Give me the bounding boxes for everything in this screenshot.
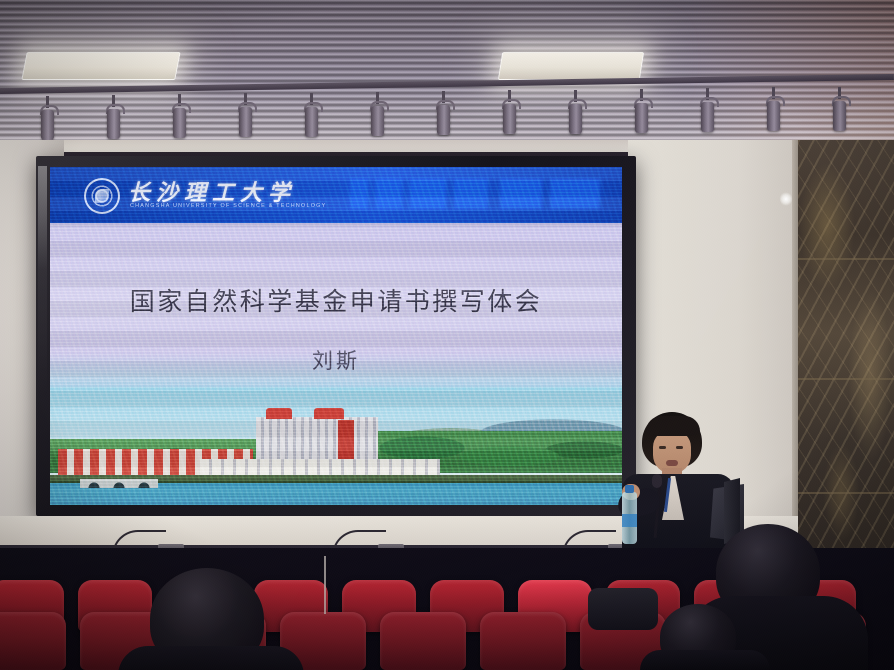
track-spotlight: [106, 105, 121, 139]
microphone-head-icon: [652, 474, 662, 488]
track-spotlight: [238, 103, 253, 137]
presenter-fringe: [646, 416, 700, 436]
university-logo-icon: [84, 178, 120, 214]
audience-member-far-shoulders: [640, 650, 770, 670]
track-spotlight: [304, 103, 319, 137]
track-spotlight: [172, 104, 187, 138]
slide-title: 国家自然科学基金申请书撰写体会: [50, 282, 622, 318]
marble-wall-column: [798, 140, 894, 570]
track-spotlight: [700, 98, 715, 132]
campus-photo: [50, 387, 622, 505]
bezel-gloss: [38, 166, 47, 396]
water-bottle: [622, 492, 637, 544]
ceiling-panel-light: [498, 52, 644, 80]
track-spotlight: [634, 99, 649, 133]
seat-divider-post: [324, 556, 326, 614]
audience-member-left-shoulders: [118, 646, 304, 670]
track-spotlight: [40, 106, 55, 140]
track-spotlight: [832, 97, 847, 131]
track-spotlight: [436, 101, 451, 135]
display-bezel: 长沙理工大学 CHANGSHA UNIVERSITY OF SCIENCE & …: [36, 156, 636, 516]
slide-header-banner: 长沙理工大学 CHANGSHA UNIVERSITY OF SCIENCE & …: [50, 167, 622, 223]
banner-secondary-text: [350, 179, 600, 209]
track-spotlight: [568, 100, 583, 134]
ceiling-panel-light: [21, 52, 180, 80]
university-name-en: CHANGSHA UNIVERSITY OF SCIENCE & TECHNOL…: [130, 203, 326, 209]
track-spotlight: [370, 102, 385, 136]
auditorium-seat[interactable]: [480, 612, 566, 670]
presenter-mouth: [666, 460, 678, 466]
wall-light-reflection: [780, 192, 792, 206]
track-spotlight: [766, 97, 781, 131]
lecture-hall-photo: 长沙理工大学 CHANGSHA UNIVERSITY OF SCIENCE & …: [0, 0, 894, 670]
backpack: [588, 588, 658, 630]
auditorium-seat[interactable]: [380, 612, 466, 670]
auditorium-seat[interactable]: [0, 612, 66, 670]
led-screen[interactable]: 长沙理工大学 CHANGSHA UNIVERSITY OF SCIENCE & …: [50, 167, 622, 505]
slide-author: 刘斯: [50, 345, 622, 375]
track-spotlight: [502, 100, 517, 134]
